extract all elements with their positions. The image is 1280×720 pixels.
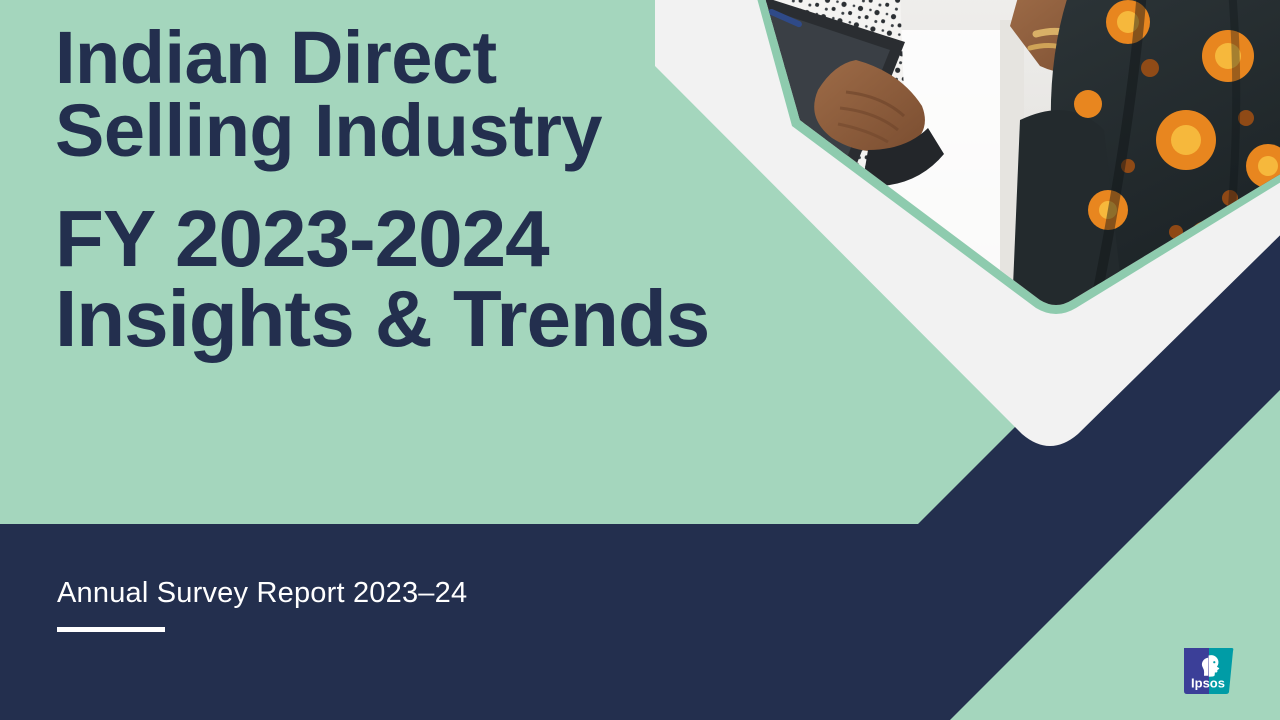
- ipsos-logo-mark: Ipsos: [1184, 648, 1234, 694]
- ipsos-wordmark: Ipsos: [1191, 676, 1225, 691]
- footer-block: Annual Survey Report 2023–24: [57, 578, 467, 632]
- ipsos-logo: Ipsos: [1184, 648, 1234, 694]
- report-cover-page: Indian Direct Selling Industry FY 2023-2…: [0, 0, 1280, 720]
- footer-rule: [57, 627, 165, 632]
- footer-caption: Annual Survey Report 2023–24: [57, 578, 467, 610]
